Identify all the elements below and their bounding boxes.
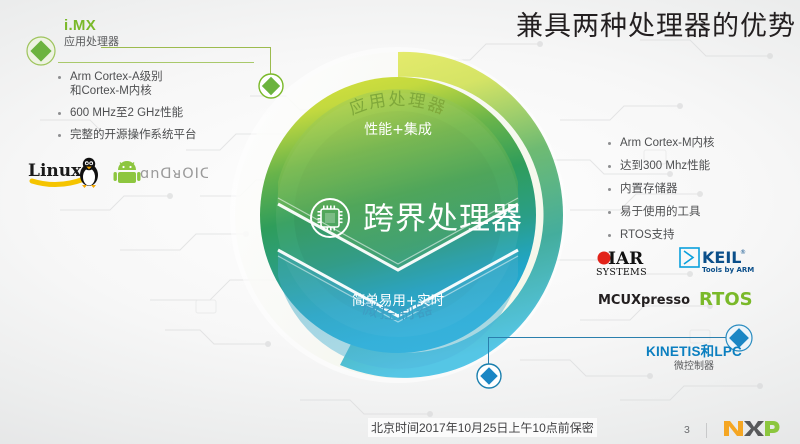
imx-subtitle: 应用处理器 xyxy=(64,35,119,49)
list-item: 完整的开源操作系统平台 xyxy=(56,128,266,142)
diagram-lower-band-label: 简单易用+实时 xyxy=(352,292,444,309)
nxp-logo xyxy=(722,419,780,438)
diagram-upper-band-label: 性能+集成 xyxy=(364,121,432,138)
slide-footer: 北京时间2017年10月25日上午10点前保密 3 xyxy=(0,414,800,444)
mcu-bullet-list: Arm Cortex-M内核 达到300 Mhz性能 内置存储器 易于使用的工具… xyxy=(606,136,796,251)
kinetis-connector-line-horizontal xyxy=(488,337,739,338)
svg-text:KEIL: KEIL xyxy=(702,248,741,267)
list-item: 达到300 Mhz性能 xyxy=(606,159,796,173)
svg-text:Tools by ARM: Tools by ARM xyxy=(702,266,754,274)
crossover-processor-diagram: 应用处理器 微控制器 性能+集成 简单易用+实时 xyxy=(248,22,548,408)
imx-bullet-list: Arm Cortex-A级别和Cortex-M内核 600 MHz至2 GHz性… xyxy=(56,70,266,150)
blue-diamond-marker-icon xyxy=(476,363,502,389)
list-item: 内置存储器 xyxy=(606,182,796,196)
svg-text:SYSTEMS: SYSTEMS xyxy=(596,267,647,278)
mcuxpresso-logo-text: MCUXpresso xyxy=(598,293,690,308)
android-logo-icon xyxy=(114,161,141,183)
list-item: Arm Cortex-M内核 xyxy=(606,136,796,150)
list-item: 600 MHz至2 GHz性能 xyxy=(56,106,266,120)
slide-canvas: 兼具两种处理器的优势 xyxy=(0,0,800,444)
list-item: RTOS支持 xyxy=(606,228,796,242)
diagram-center-label: 跨界处理器 xyxy=(363,201,523,237)
kinetis-connector-line-vertical xyxy=(488,337,489,365)
linux-penguin-icon xyxy=(80,158,98,188)
kinetis-lpc-callout: KINETIS和LPC 微控制器 xyxy=(596,344,792,373)
imx-underline xyxy=(58,62,254,63)
os-logo-group: Linux xyxy=(28,156,208,190)
imx-diamond-icon xyxy=(26,36,56,66)
kinetis-subtitle: 微控制器 xyxy=(596,360,792,373)
kinetis-title: KINETIS和LPC xyxy=(596,344,792,360)
iar-systems-logo: IAR SYSTEMS xyxy=(596,249,647,278)
list-item: Arm Cortex-A级别和Cortex-M内核 xyxy=(56,70,266,98)
footer-divider xyxy=(706,423,707,438)
footer-confidential-note: 北京时间2017年10月25日上午10点前保密 xyxy=(368,418,597,437)
android-logo-text: ɑnᗡᴚOIᗡ xyxy=(140,166,208,182)
tool-logo-group: IAR SYSTEMS KEIL ® Tools by ARM MCUXpres… xyxy=(596,246,772,312)
rtos-logo-text: RTOS xyxy=(699,289,753,310)
svg-text:®: ® xyxy=(740,249,746,256)
svg-text:IAR: IAR xyxy=(608,249,644,269)
list-item: 易于使用的工具 xyxy=(606,205,796,219)
linux-logo-text: Linux xyxy=(28,161,82,181)
slide-headline: 兼具两种处理器的优势 xyxy=(516,10,796,44)
footer-page-number: 3 xyxy=(684,424,690,436)
imx-title: i.MX xyxy=(64,18,119,34)
imx-connector-line-horizontal xyxy=(101,47,271,48)
keil-logo: KEIL ® Tools by ARM xyxy=(680,248,754,274)
